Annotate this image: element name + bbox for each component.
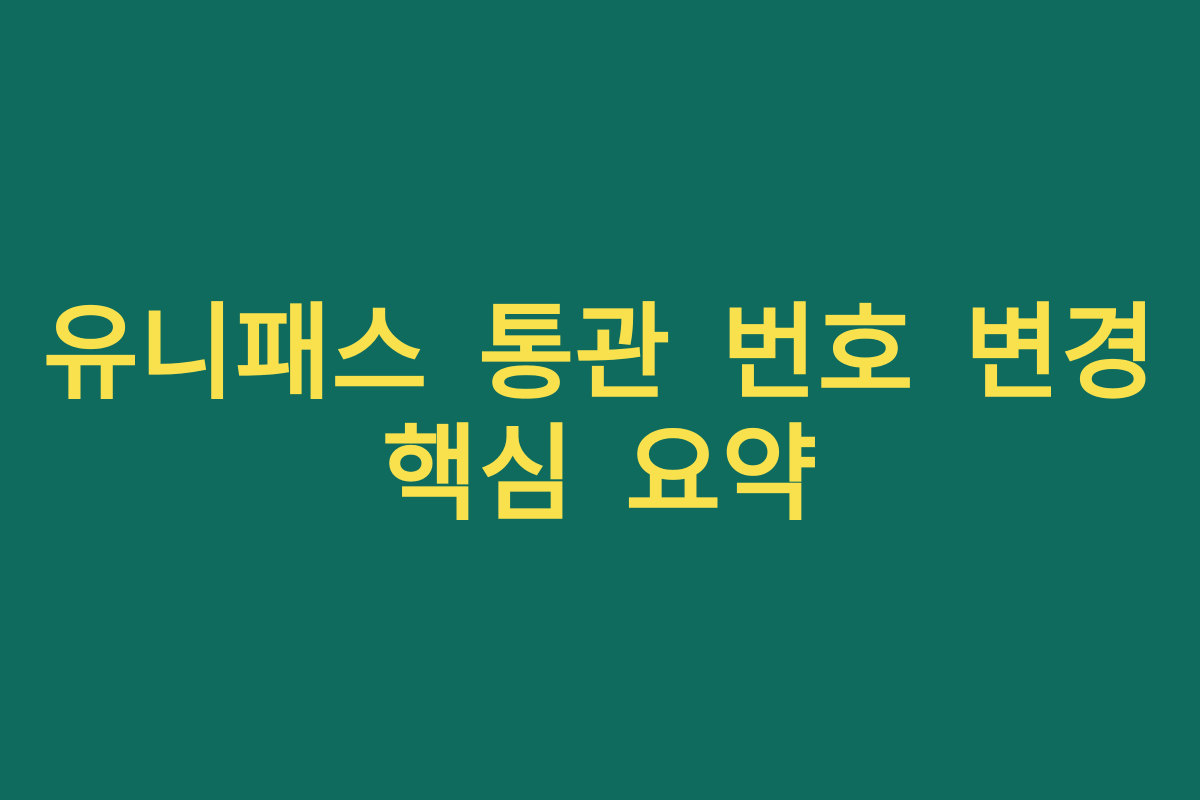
headline-line-1: 유니패스 통관 번호 변경 (0, 293, 1200, 414)
headline-block: 유니패스 통관 번호 변경 핵심 요약 (0, 293, 1200, 534)
headline-line-2: 핵심 요약 (0, 414, 1200, 535)
title-card-banner: 유니패스 통관 번호 변경 핵심 요약 (0, 0, 1200, 800)
